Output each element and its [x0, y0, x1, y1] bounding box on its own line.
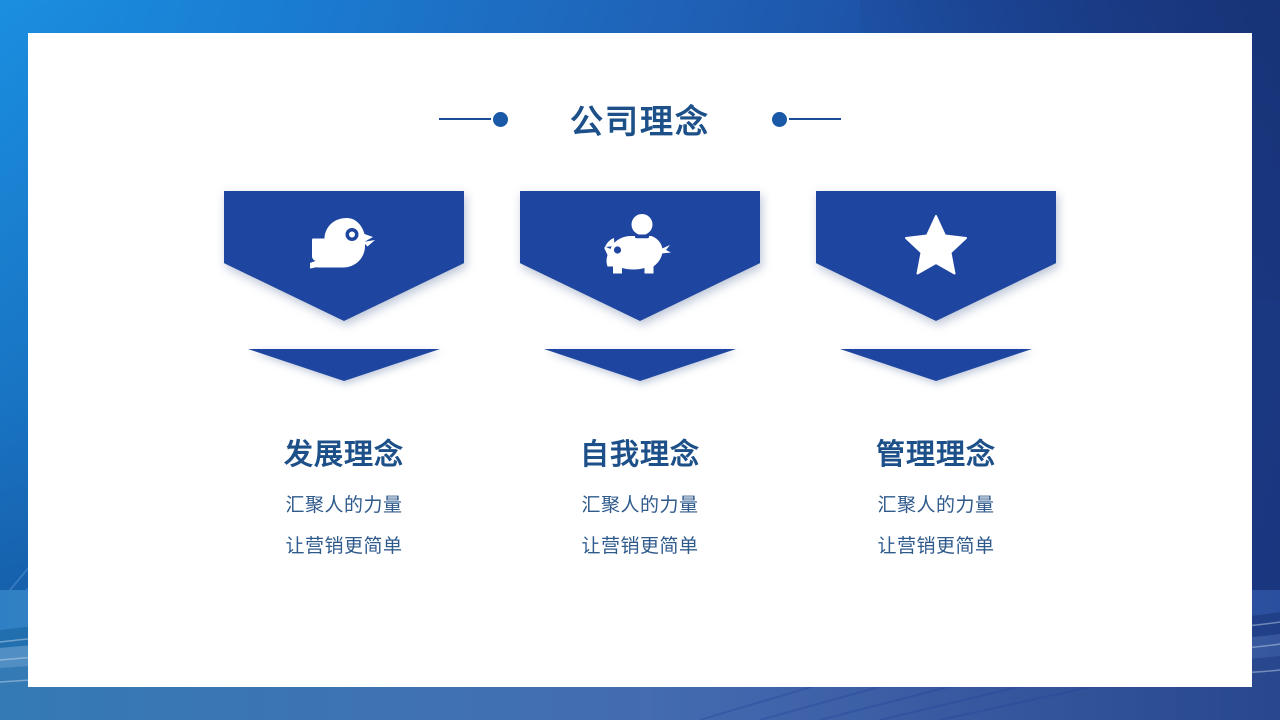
concept-line2-management: 让营销更简单: [877, 531, 994, 558]
concept-line2-self: 让营销更简单: [581, 531, 698, 558]
down-arrow-icon: [248, 349, 440, 381]
concept-column-development[interactable]: 发展理念 汇聚人的力量 让营销更简单: [196, 191, 492, 558]
concept-columns: 发展理念 汇聚人的力量 让营销更简单: [28, 191, 1252, 558]
down-arrow-icon: [544, 349, 736, 381]
arrow-shape-development: [248, 349, 440, 381]
decoration-line-left: [439, 118, 491, 120]
page-title: 公司理念: [570, 95, 710, 143]
content-card: 公司理念: [28, 33, 1252, 687]
decoration-dot-right: [772, 112, 787, 127]
banner-shape-management: [816, 191, 1056, 321]
bird-icon: [224, 203, 464, 287]
concept-line1-self: 汇聚人的力量: [581, 490, 698, 517]
title-row: 公司理念: [28, 95, 1252, 143]
arrow-shape-self: [544, 349, 736, 381]
banner-shape-self: [520, 191, 760, 321]
slide-canvas: 公司理念: [0, 0, 1280, 720]
banner-pentagon: [224, 191, 464, 321]
arrow-shape-management: [840, 349, 1032, 381]
banner-shape-development: [224, 191, 464, 321]
banner-pentagon: [520, 191, 760, 321]
concept-line1-management: 汇聚人的力量: [877, 490, 994, 517]
decoration-line-right: [789, 118, 841, 120]
dot-line-decoration-icon: [772, 112, 841, 127]
concept-title-management: 管理理念: [876, 431, 996, 473]
banner-pentagon: [816, 191, 1056, 321]
decoration-dot-left: [493, 112, 508, 127]
piggy-bank-icon: [520, 203, 760, 287]
concept-title-self: 自我理念: [580, 431, 700, 473]
down-arrow-icon: [840, 349, 1032, 381]
concept-title-development: 发展理念: [284, 431, 404, 473]
concept-column-management[interactable]: 管理理念 汇聚人的力量 让营销更简单: [788, 191, 1084, 558]
star-icon: [816, 203, 1056, 287]
line-dot-decoration-icon: [439, 112, 508, 127]
concept-line1-development: 汇聚人的力量: [285, 490, 402, 517]
concept-line2-development: 让营销更简单: [285, 531, 402, 558]
concept-column-self[interactable]: 自我理念 汇聚人的力量 让营销更简单: [492, 191, 788, 558]
